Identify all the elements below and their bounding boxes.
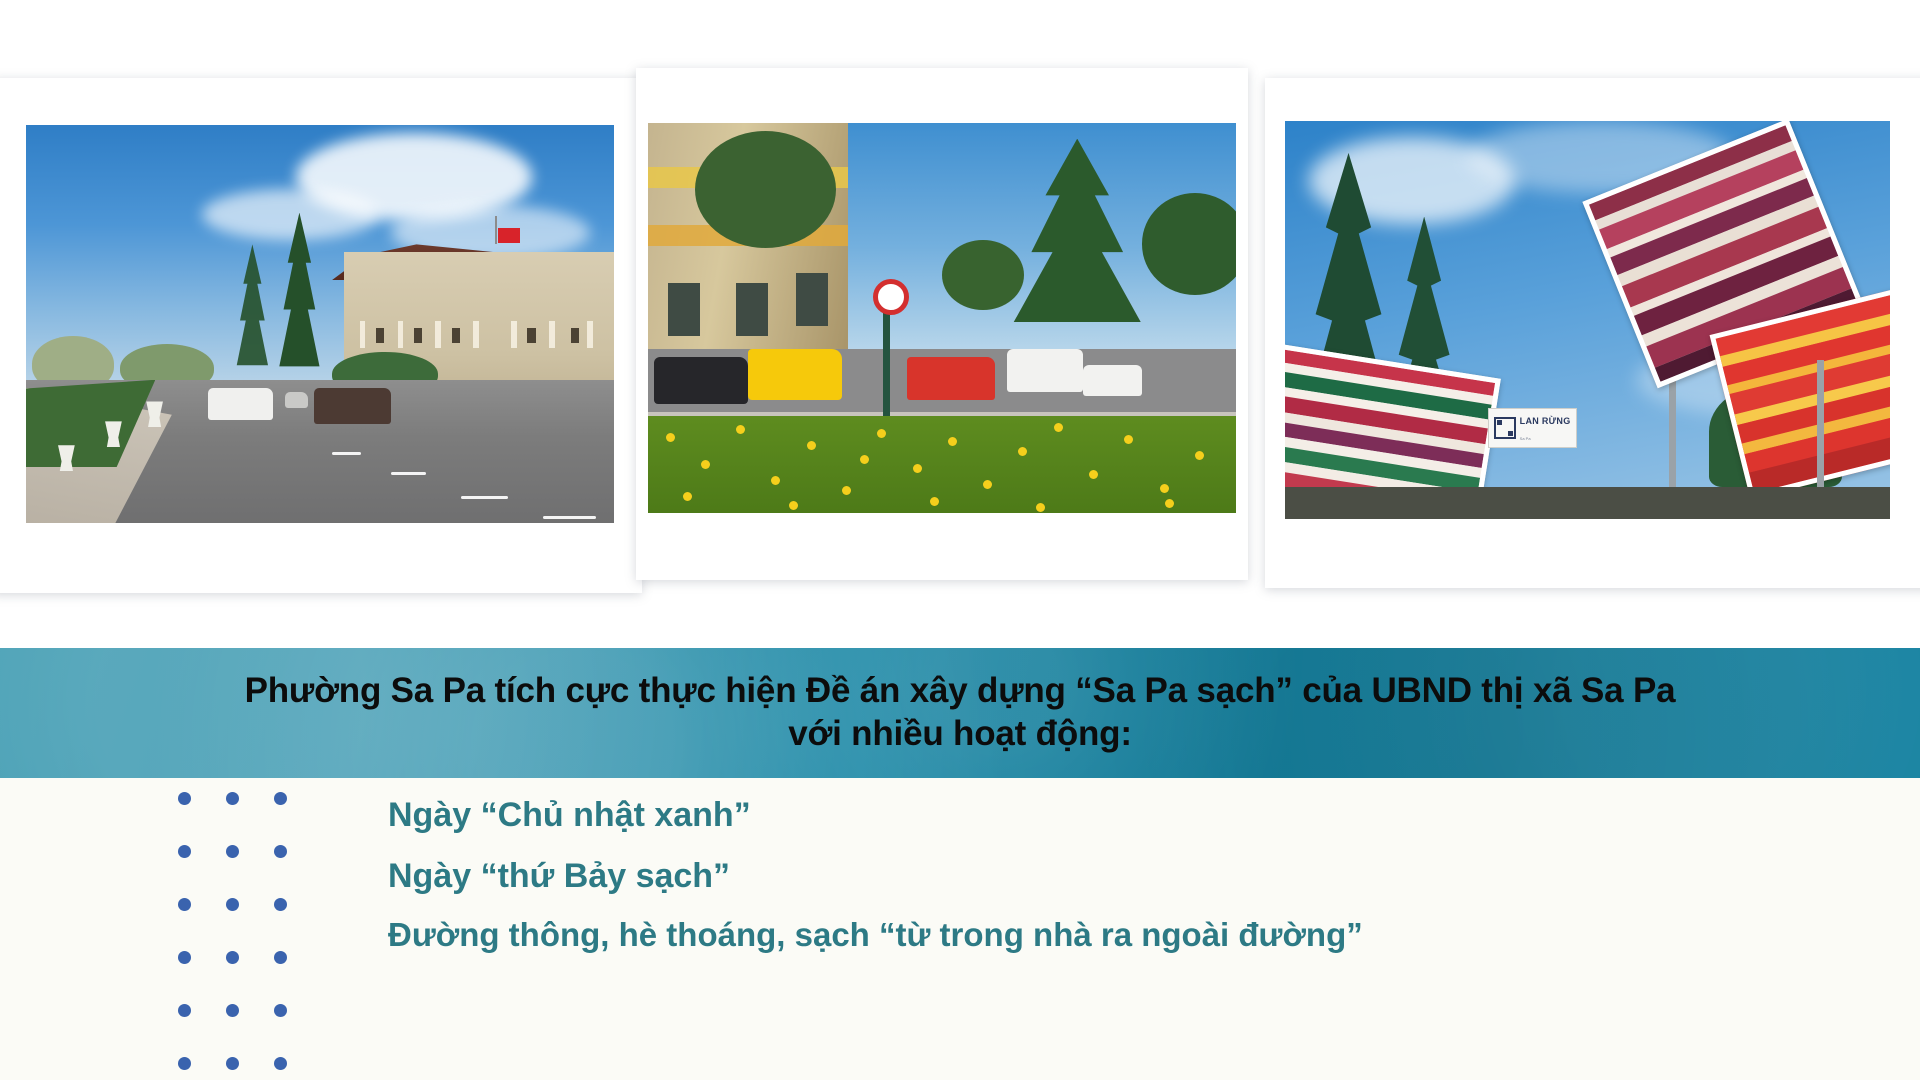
car xyxy=(314,388,390,424)
red-pickup-truck xyxy=(907,357,995,400)
ground xyxy=(1285,487,1890,519)
page-title: Phường Sa Pa tích cực thực hiện Đề án xâ… xyxy=(30,670,1890,755)
photo-frame-3[interactable]: LAN RỪNG Sa Pa xyxy=(1265,78,1920,588)
logo-glyph-icon xyxy=(1494,417,1516,439)
photo-town-square-with-yellow-flowers xyxy=(648,123,1236,513)
list-item[interactable]: Đường thông, hè thoáng, sạch “từ trong n… xyxy=(388,916,1868,954)
tree xyxy=(1142,193,1236,294)
title-banner: Phường Sa Pa tích cực thực hiện Đề án xâ… xyxy=(0,648,1920,778)
grid-dot xyxy=(226,792,239,805)
white-car xyxy=(1083,365,1142,396)
grid-dot xyxy=(226,951,239,964)
no-car-sign-icon xyxy=(873,279,909,315)
page-title-line-2: với nhiều hoạt động: xyxy=(788,714,1132,753)
yellow-flower-bed xyxy=(648,416,1236,514)
sign-title: LAN RỪNG xyxy=(1520,416,1571,426)
grid-dot xyxy=(178,1004,191,1017)
photo-frame-2[interactable] xyxy=(636,68,1248,580)
list-item[interactable]: Ngày “thứ Bảy sạch” xyxy=(388,857,1868,896)
grid-dot xyxy=(178,845,191,858)
content-area: Ngày “Chủ nhật xanh” Ngày “thứ Bảy sạch”… xyxy=(0,778,1920,1080)
grid-dot xyxy=(226,898,239,911)
grid-dot xyxy=(274,898,287,911)
grid-dot xyxy=(178,951,191,964)
grid-dot xyxy=(226,1057,239,1070)
sign-subtitle: Sa Pa xyxy=(1520,436,1531,441)
grid-dot xyxy=(226,1004,239,1017)
grid-dot xyxy=(274,845,287,858)
photo-brocade-panels-against-sky: LAN RỪNG Sa Pa xyxy=(1285,121,1890,519)
grid-dot xyxy=(178,1057,191,1070)
tree xyxy=(942,240,1024,310)
dot-grid-decoration xyxy=(178,792,298,1082)
electric-shuttle xyxy=(748,349,842,400)
white-van xyxy=(1007,349,1083,392)
list-item[interactable]: Ngày “Chủ nhật xanh” xyxy=(388,796,1868,835)
vietnam-flag-icon xyxy=(498,228,520,243)
grid-dot xyxy=(226,845,239,858)
grid-dot xyxy=(274,1057,287,1070)
grid-dot xyxy=(274,951,287,964)
car xyxy=(208,388,273,420)
page-title-line-1: Phường Sa Pa tích cực thực hiện Đề án xâ… xyxy=(245,671,1676,710)
car xyxy=(285,392,309,408)
photo-frame-1[interactable] xyxy=(0,78,642,593)
grid-dot xyxy=(274,792,287,805)
photo-street-with-colonial-building xyxy=(26,125,614,523)
grid-dot xyxy=(274,1004,287,1017)
grid-dot xyxy=(178,792,191,805)
tree xyxy=(695,131,836,248)
suv xyxy=(654,357,748,404)
panel-mast xyxy=(1817,360,1824,495)
activity-list: Ngày “Chủ nhật xanh” Ngày “thứ Bảy sạch”… xyxy=(388,796,1868,954)
cloud-icon xyxy=(202,189,378,241)
lan-rung-sign: LAN RỪNG Sa Pa xyxy=(1488,408,1577,448)
photo-strip: LAN RỪNG Sa Pa xyxy=(0,0,1920,648)
grid-dot xyxy=(178,898,191,911)
